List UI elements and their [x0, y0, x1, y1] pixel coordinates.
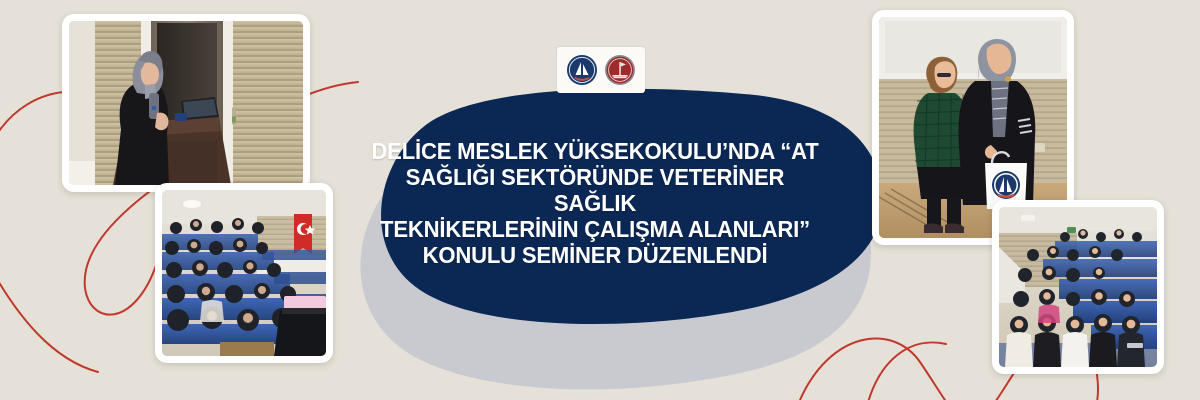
photo-speaker [62, 14, 310, 192]
institution-logo-red-icon [604, 54, 636, 86]
photo-audience-right [992, 200, 1164, 374]
photo-speaker-image [69, 21, 303, 185]
photo-audience-left [155, 183, 333, 363]
logo-card [557, 47, 645, 93]
photo-audience-left-image [162, 190, 326, 356]
page-title: DELİCE MESLEK YÜKSEKOKULU’NDA “AT SAĞLIĞ… [369, 138, 820, 268]
photo-audience-right-image [999, 207, 1157, 367]
banner-root: DELİCE MESLEK YÜKSEKOKULU’NDA “AT SAĞLIĞ… [0, 0, 1200, 400]
university-logo-navy-icon [566, 54, 598, 86]
